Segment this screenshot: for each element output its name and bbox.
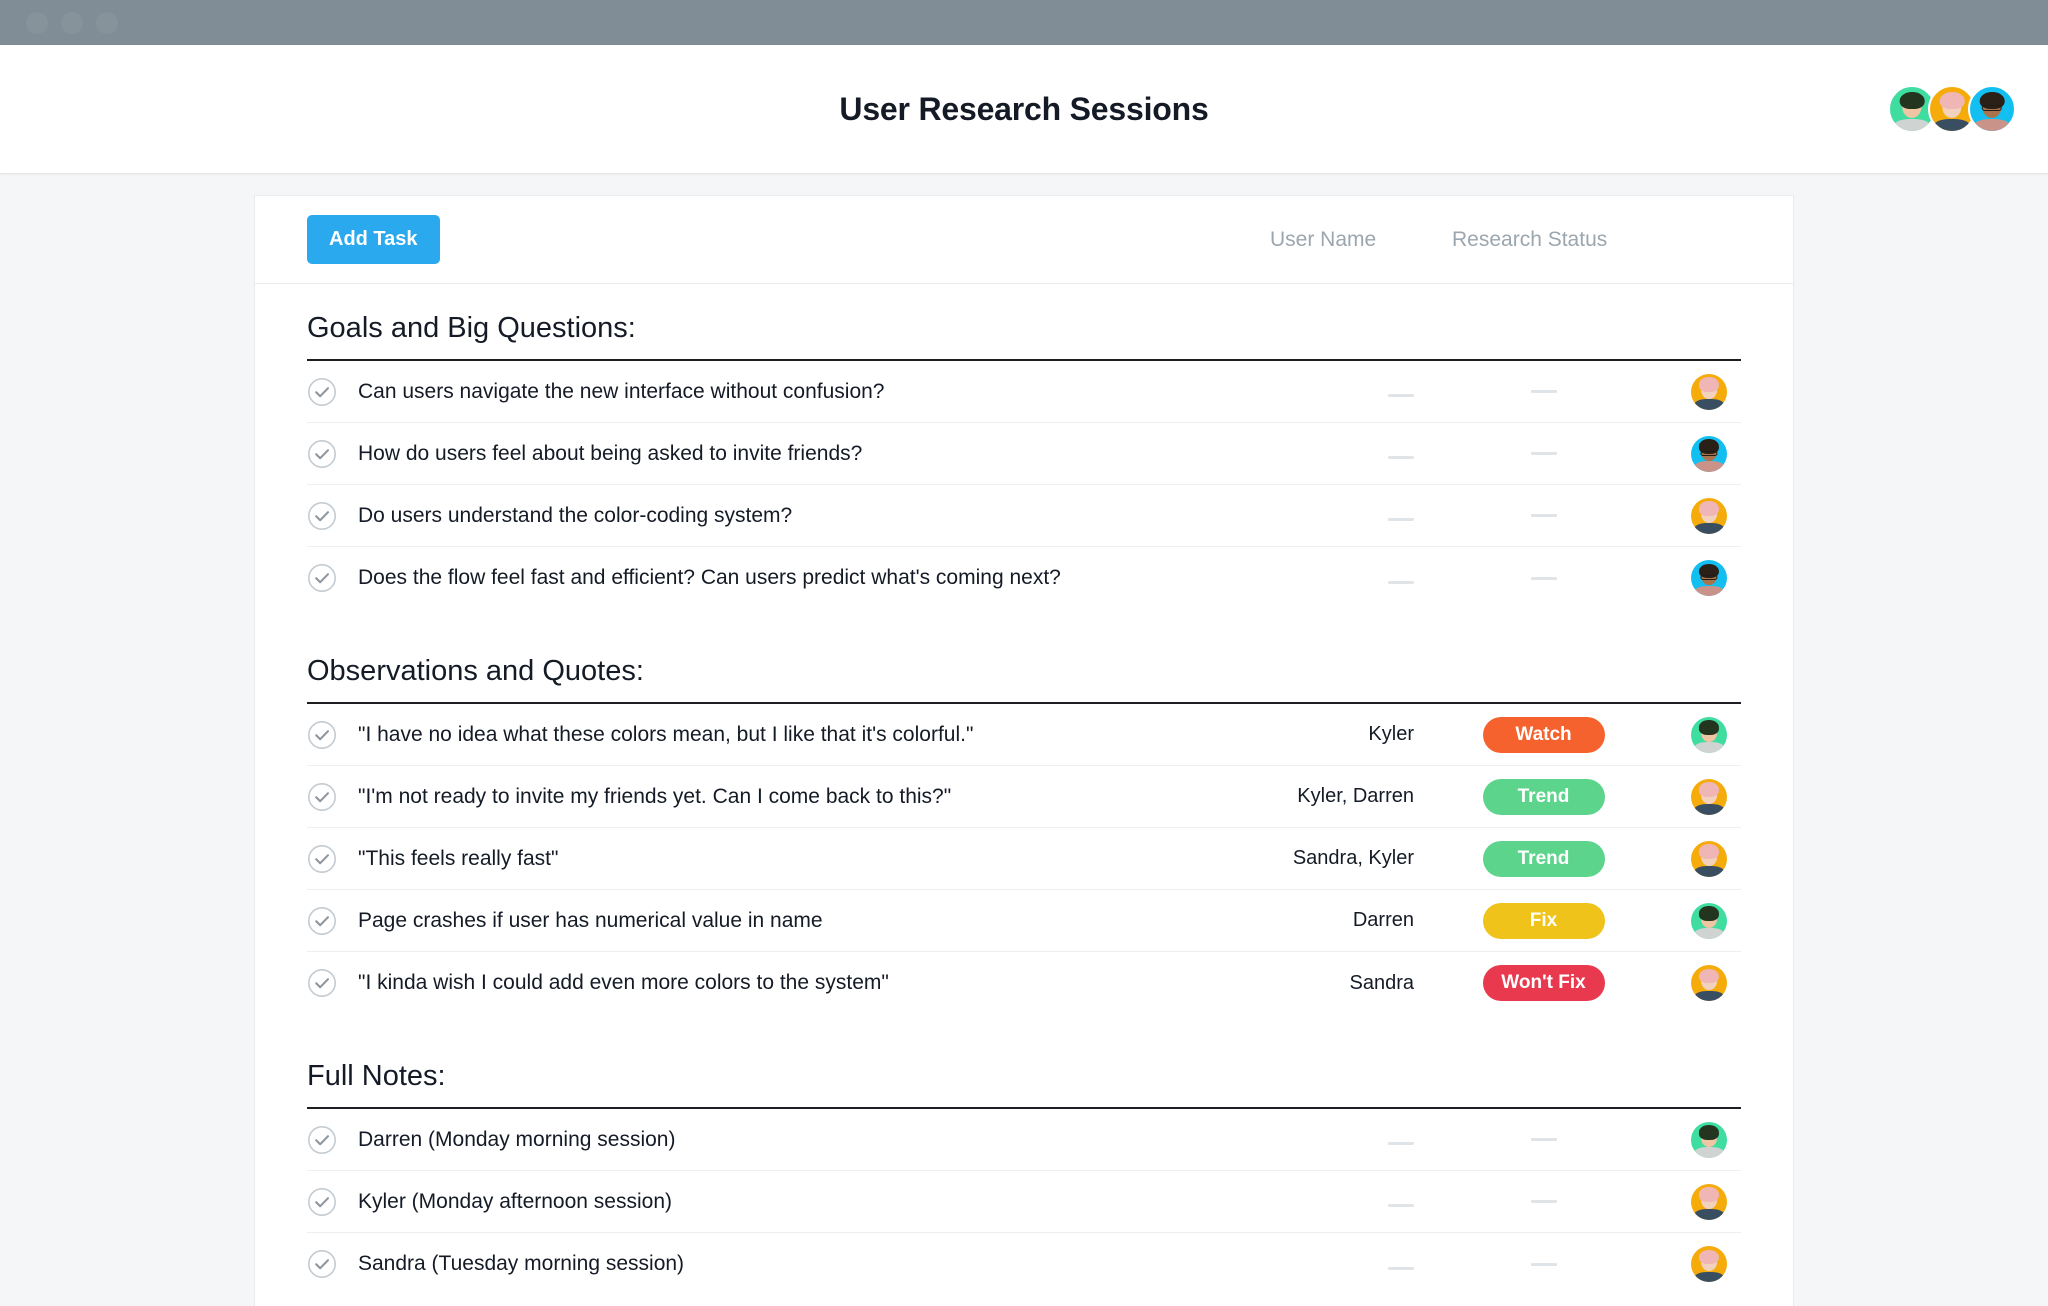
task-row[interactable]: "This feels really fast"Sandra, KylerTre… (307, 828, 1741, 890)
cell-research-status[interactable] (1436, 1138, 1651, 1141)
cell-assignee (1651, 1184, 1741, 1220)
empty-dash (1531, 390, 1557, 393)
cell-assignee (1651, 717, 1741, 753)
empty-dash (1388, 1267, 1414, 1270)
cell-user-name[interactable] (1254, 567, 1436, 590)
task-row[interactable]: "I'm not ready to invite my friends yet.… (307, 766, 1741, 828)
task-title[interactable]: Darren (Monday morning session) (358, 1128, 675, 1152)
task-section: Observations and Quotes:"I have no idea … (255, 609, 1793, 1014)
cell-assignee (1651, 965, 1741, 1001)
check-circle-icon[interactable] (307, 906, 337, 936)
cell-user-name[interactable]: Sandra (1254, 972, 1436, 995)
task-title[interactable]: "I have no idea what these colors mean, … (358, 723, 973, 747)
task-title[interactable]: Kyler (Monday afternoon session) (358, 1190, 672, 1214)
task-title[interactable]: Can users navigate the new interface wit… (358, 380, 885, 404)
task-row[interactable]: Kyler (Monday afternoon session) (307, 1171, 1741, 1233)
avatar[interactable] (1691, 903, 1727, 939)
cell-user-name[interactable] (1254, 1190, 1436, 1213)
cell-research-status[interactable]: Trend (1436, 779, 1651, 815)
os-titlebar (0, 0, 2048, 45)
empty-dash (1531, 1138, 1557, 1141)
cell-user-name[interactable] (1254, 1253, 1436, 1276)
task-title[interactable]: "I'm not ready to invite my friends yet.… (358, 785, 951, 809)
task-title[interactable]: Do users understand the color-coding sys… (358, 504, 792, 528)
avatar[interactable] (1691, 1246, 1727, 1282)
check-circle-icon[interactable] (307, 968, 337, 998)
check-circle-icon[interactable] (307, 377, 337, 407)
status-badge[interactable]: Won't Fix (1483, 965, 1605, 1001)
check-circle-icon[interactable] (307, 501, 337, 531)
avatar[interactable] (1691, 560, 1727, 596)
avatar[interactable] (1691, 436, 1727, 472)
cell-assignee (1651, 903, 1741, 939)
cell-assignee (1651, 560, 1741, 596)
empty-dash (1388, 581, 1414, 584)
avatar[interactable] (1968, 85, 2016, 133)
cell-assignee (1651, 1246, 1741, 1282)
task-row[interactable]: Can users navigate the new interface wit… (307, 361, 1741, 423)
check-circle-icon[interactable] (307, 563, 337, 593)
cell-user-name[interactable] (1254, 380, 1436, 403)
section-title: Observations and Quotes: (307, 609, 1741, 704)
sections-container: Goals and Big Questions:Can users naviga… (255, 284, 1793, 1295)
column-header-research-status[interactable]: Research Status (1452, 228, 1667, 252)
cell-user-name[interactable] (1254, 442, 1436, 465)
check-circle-icon[interactable] (307, 1187, 337, 1217)
empty-dash (1388, 394, 1414, 397)
empty-dash (1531, 1200, 1557, 1203)
cell-research-status[interactable] (1436, 514, 1651, 517)
status-badge[interactable]: Watch (1483, 717, 1605, 753)
section-title: Full Notes: (307, 1014, 1741, 1109)
cell-user-name[interactable]: Kyler (1254, 723, 1436, 746)
maximize-dot-icon[interactable] (96, 12, 118, 34)
add-task-button[interactable]: Add Task (307, 215, 440, 264)
cell-research-status[interactable] (1436, 577, 1651, 580)
page-body: Add Task User Name Research Status Goals… (0, 173, 2048, 1306)
check-circle-icon[interactable] (307, 782, 337, 812)
task-row[interactable]: Do users understand the color-coding sys… (307, 485, 1741, 547)
cell-assignee (1651, 779, 1741, 815)
avatar[interactable] (1691, 717, 1727, 753)
cell-assignee (1651, 1122, 1741, 1158)
avatar[interactable] (1691, 1184, 1727, 1220)
cell-research-status[interactable] (1436, 390, 1651, 393)
column-header-user-name[interactable]: User Name (1270, 228, 1452, 252)
section-title: Goals and Big Questions: (307, 284, 1741, 361)
empty-dash (1531, 577, 1557, 580)
check-circle-icon[interactable] (307, 1249, 337, 1279)
task-list-card: Add Task User Name Research Status Goals… (254, 195, 1794, 1306)
cell-assignee (1651, 436, 1741, 472)
empty-dash (1388, 518, 1414, 521)
task-row[interactable]: "I kinda wish I could add even more colo… (307, 952, 1741, 1014)
task-title[interactable]: Does the flow feel fast and efficient? C… (358, 566, 1061, 590)
task-row[interactable]: Does the flow feel fast and efficient? C… (307, 547, 1741, 609)
avatar[interactable] (1691, 841, 1727, 877)
empty-dash (1388, 1204, 1414, 1207)
cell-research-status[interactable]: Watch (1436, 717, 1651, 753)
avatar[interactable] (1691, 498, 1727, 534)
empty-dash (1388, 456, 1414, 459)
task-row[interactable]: Darren (Monday morning session) (307, 1109, 1741, 1171)
empty-dash (1531, 514, 1557, 517)
check-circle-icon[interactable] (307, 439, 337, 469)
status-badge[interactable]: Trend (1483, 779, 1605, 815)
avatar[interactable] (1691, 779, 1727, 815)
task-row[interactable]: "I have no idea what these colors mean, … (307, 704, 1741, 766)
avatar[interactable] (1691, 965, 1727, 1001)
task-row[interactable]: Page crashes if user has numerical value… (307, 890, 1741, 952)
toolbar: Add Task User Name Research Status (255, 196, 1793, 284)
status-badge[interactable]: Trend (1483, 841, 1605, 877)
task-title[interactable]: "This feels really fast" (358, 847, 558, 871)
cell-assignee (1651, 841, 1741, 877)
cell-user-name[interactable] (1254, 504, 1436, 527)
app-header: User Research Sessions (0, 45, 2048, 173)
empty-dash (1531, 1263, 1557, 1266)
task-section: Goals and Big Questions:Can users naviga… (255, 284, 1793, 609)
empty-dash (1531, 452, 1557, 455)
cell-research-status[interactable] (1436, 452, 1651, 455)
cell-research-status[interactable]: Won't Fix (1436, 965, 1651, 1001)
task-title[interactable]: How do users feel about being asked to i… (358, 442, 862, 466)
check-circle-icon[interactable] (307, 720, 337, 750)
cell-research-status[interactable]: Trend (1436, 841, 1651, 877)
task-title[interactable]: "I kinda wish I could add even more colo… (358, 971, 889, 995)
task-row[interactable]: How do users feel about being asked to i… (307, 423, 1741, 485)
cell-assignee (1651, 498, 1741, 534)
check-circle-icon[interactable] (307, 844, 337, 874)
avatar[interactable] (1691, 1122, 1727, 1158)
page-title: User Research Sessions (839, 91, 1208, 128)
avatar[interactable] (1691, 374, 1727, 410)
close-dot-icon[interactable] (26, 12, 48, 34)
task-title[interactable]: Sandra (Tuesday morning session) (358, 1252, 684, 1276)
status-badge[interactable]: Fix (1483, 903, 1605, 939)
cell-user-name[interactable]: Sandra, Kyler (1254, 847, 1436, 870)
cell-user-name[interactable]: Darren (1254, 909, 1436, 932)
cell-user-name[interactable] (1254, 1128, 1436, 1151)
task-row[interactable]: Sandra (Tuesday morning session) (307, 1233, 1741, 1295)
cell-user-name[interactable]: Kyler, Darren (1254, 785, 1436, 808)
cell-research-status[interactable] (1436, 1263, 1651, 1266)
cell-assignee (1651, 374, 1741, 410)
task-title[interactable]: Page crashes if user has numerical value… (358, 909, 823, 933)
empty-dash (1388, 1142, 1414, 1145)
check-circle-icon[interactable] (307, 1125, 337, 1155)
minimize-dot-icon[interactable] (61, 12, 83, 34)
header-member-avatars (1896, 85, 2016, 133)
cell-research-status[interactable]: Fix (1436, 903, 1651, 939)
task-section: Full Notes:Darren (Monday morning sessio… (255, 1014, 1793, 1295)
cell-research-status[interactable] (1436, 1200, 1651, 1203)
